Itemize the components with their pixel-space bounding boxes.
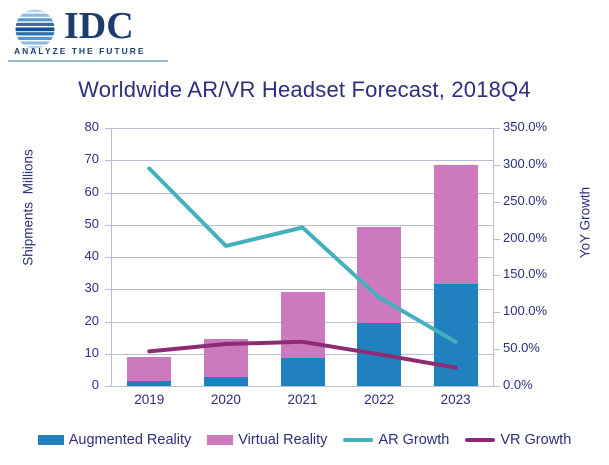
y-axis-right-tick bbox=[494, 312, 500, 313]
legend-swatch-icon bbox=[207, 435, 233, 445]
y-axis-left-tick bbox=[105, 386, 111, 387]
y-axis-right-tick-label: 200.0% bbox=[503, 230, 565, 245]
y-axis-left-tick-label: 40 bbox=[57, 248, 99, 263]
legend-item-label: AR Growth bbox=[378, 432, 449, 448]
y-axis-right-tick-label: 0.0% bbox=[503, 377, 565, 392]
plot-area: 01020304050607080 0.0%50.0%100.0%150.0%2… bbox=[111, 128, 494, 386]
legend-item[interactable]: VR Growth bbox=[465, 432, 571, 448]
x-axis-tick-label: 2023 bbox=[418, 392, 494, 407]
y-axis-right-tick bbox=[494, 275, 500, 276]
idc-logo: IDC ANALYZE THE FUTURE bbox=[8, 6, 168, 58]
y-axis-left-title-line2: Millions bbox=[21, 149, 36, 194]
legend-item-label: Virtual Reality bbox=[238, 432, 327, 448]
x-axis-tick-label: 2020 bbox=[188, 392, 264, 407]
chart-page: IDC ANALYZE THE FUTURE Worldwide AR/VR H… bbox=[0, 0, 609, 465]
legend-item[interactable]: Virtual Reality bbox=[207, 432, 327, 448]
y-axis-left-tick-label: 80 bbox=[57, 119, 99, 134]
y-axis-right-tick-label: 350.0% bbox=[503, 119, 565, 134]
logo-tagline: ANALYZE THE FUTURE bbox=[14, 46, 146, 56]
logo-divider bbox=[8, 60, 168, 62]
chart-title: Worldwide AR/VR Headset Forecast, 2018Q4 bbox=[0, 77, 609, 103]
line-ar-growth bbox=[149, 169, 455, 342]
y-axis-left-tick-label: 10 bbox=[57, 345, 99, 360]
y-axis-right-tick-label: 100.0% bbox=[503, 303, 565, 318]
y-axis-left-tick-label: 70 bbox=[57, 151, 99, 166]
x-axis-tick-label: 2019 bbox=[111, 392, 187, 407]
line-series-group bbox=[111, 128, 494, 386]
y-axis-left-title: Shipments Millions bbox=[21, 118, 36, 298]
y-axis-right-tick bbox=[494, 202, 500, 203]
line-vr-growth bbox=[149, 342, 455, 368]
legend-line-icon bbox=[343, 438, 373, 442]
legend-swatch-icon bbox=[38, 435, 64, 445]
y-axis-left-tick-label: 20 bbox=[57, 313, 99, 328]
y-axis-right-tick bbox=[494, 386, 500, 387]
y-axis-right-title: YoY Growth bbox=[578, 143, 593, 303]
y-axis-right-tick-label: 50.0% bbox=[503, 340, 565, 355]
y-axis-left-tick-label: 60 bbox=[57, 184, 99, 199]
y-axis-right-tick bbox=[494, 349, 500, 350]
legend-item-label: VR Growth bbox=[500, 432, 571, 448]
logo-wordmark: IDC bbox=[64, 4, 134, 48]
legend-item-label: Augmented Reality bbox=[69, 432, 192, 448]
x-axis-tick-label: 2022 bbox=[341, 392, 417, 407]
globe-stripes-icon bbox=[14, 8, 56, 50]
y-axis-right-tick-label: 150.0% bbox=[503, 266, 565, 281]
y-axis-left-tick-label: 50 bbox=[57, 216, 99, 231]
y-axis-right-tick bbox=[494, 128, 500, 129]
gridline bbox=[111, 386, 494, 387]
chart-legend: Augmented RealityVirtual RealityAR Growt… bbox=[0, 432, 609, 448]
y-axis-right-tick-label: 250.0% bbox=[503, 193, 565, 208]
y-axis-left-title-line1: Shipments bbox=[21, 202, 36, 266]
legend-item[interactable]: AR Growth bbox=[343, 432, 449, 448]
y-axis-right-tick-label: 300.0% bbox=[503, 156, 565, 171]
x-axis-tick-label: 2021 bbox=[265, 392, 341, 407]
legend-item[interactable]: Augmented Reality bbox=[38, 432, 192, 448]
y-axis-left-tick-label: 0 bbox=[57, 377, 99, 392]
legend-line-icon bbox=[465, 438, 495, 442]
y-axis-right-tick bbox=[494, 165, 500, 166]
y-axis-left-tick-label: 30 bbox=[57, 280, 99, 295]
y-axis-right-tick bbox=[494, 239, 500, 240]
